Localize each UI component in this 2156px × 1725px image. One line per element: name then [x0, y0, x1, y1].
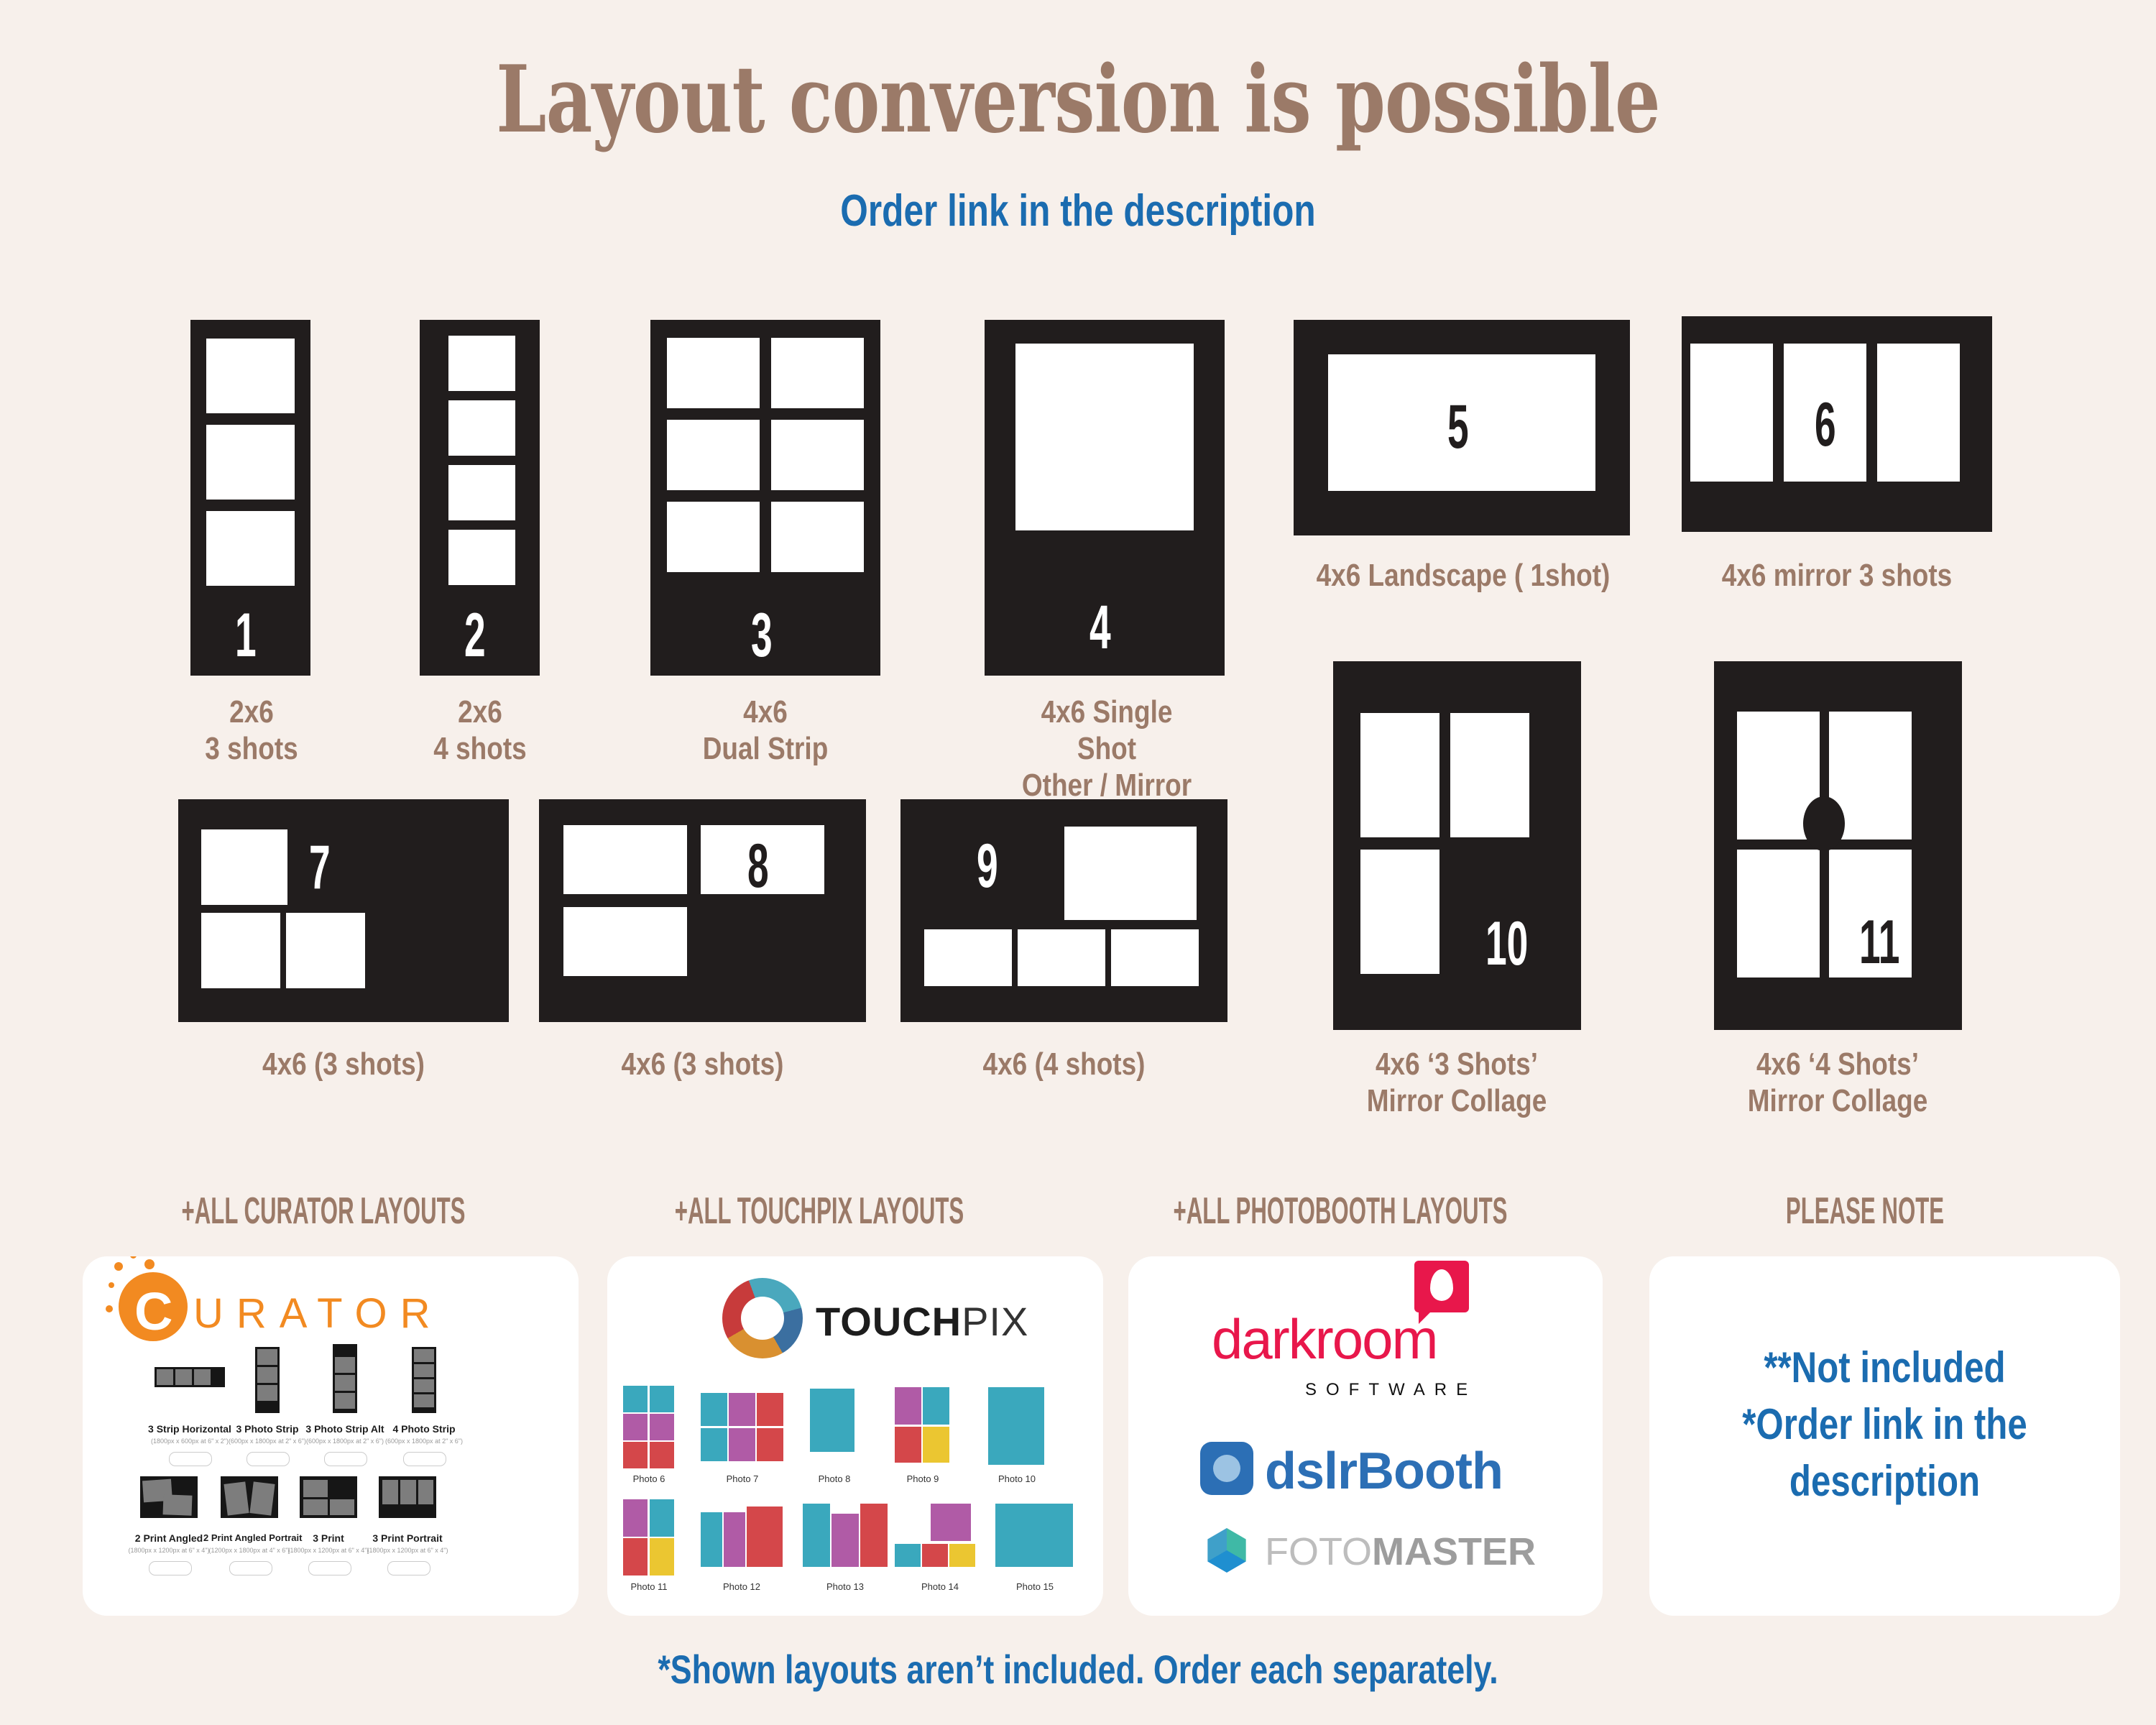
photo-cell — [1360, 850, 1439, 974]
layout-caption-8: 4x6 (3 shots) — [565, 1046, 839, 1082]
curator-thumb-label: 3 Print — [284, 1532, 373, 1544]
layout-template-2[interactable]: 2 — [420, 320, 540, 676]
layout-number: 1 — [235, 604, 257, 666]
photo-cell — [563, 907, 687, 976]
touchpix-card[interactable]: TOUCHPIX Photo 6 Photo 7 Photo 8 Photo 9… — [607, 1256, 1103, 1616]
touchpix-thumb[interactable] — [995, 1504, 1074, 1570]
touchpix-thumb-label: Photo 8 — [806, 1473, 863, 1484]
curator-download-button[interactable] — [387, 1561, 430, 1575]
darkroom-bubble-icon — [1414, 1261, 1469, 1312]
layout-template-4[interactable]: 4 — [985, 320, 1225, 676]
section-heading-curator: +ALL CURATOR LAYOUTS — [151, 1190, 496, 1233]
photo-cell — [771, 338, 864, 408]
photo-cell — [286, 913, 365, 988]
layout-number: 3 — [751, 604, 773, 666]
touchpix-thumb[interactable] — [699, 1505, 784, 1573]
curator-download-button[interactable] — [247, 1452, 290, 1466]
layout-number: 6 — [1815, 394, 1836, 456]
photo-cell — [771, 502, 864, 572]
fotomaster-logo-light: FOTO — [1265, 1530, 1372, 1573]
photo-cell — [771, 420, 864, 490]
curator-thumb[interactable] — [221, 1476, 278, 1518]
layout-template-7[interactable]: 7 — [178, 799, 509, 1022]
curator-dot-icon — [130, 1256, 137, 1259]
photo-cell — [448, 400, 515, 456]
curator-download-button[interactable] — [403, 1452, 446, 1466]
curator-thumb[interactable] — [412, 1347, 436, 1413]
curator-thumb[interactable] — [155, 1367, 225, 1387]
curator-card[interactable]: C URATOR 3 Strip Horizontal 3 Photo Stri… — [83, 1256, 579, 1616]
touchpix-logo-text: TOUCHPIX — [816, 1298, 1028, 1345]
photo-cell — [1018, 929, 1105, 986]
layout-caption-5: 4x6 Landscape ( 1shot) — [1312, 557, 1614, 594]
photo-cell — [1690, 344, 1773, 482]
fotomaster-logo-text: FOTOMASTER — [1265, 1529, 1536, 1574]
layout-caption-1: 2x6 3 shots — [164, 694, 339, 767]
curator-thumb[interactable] — [379, 1476, 436, 1518]
photo-cell — [201, 913, 280, 988]
layout-caption-11: 4x6 ‘4 Shots’ Mirror Collage — [1732, 1046, 1943, 1119]
photo-cell — [1111, 929, 1199, 986]
touchpix-thumb-label: Photo 10 — [985, 1473, 1049, 1484]
layout-caption-10: 4x6 ‘3 Shots’ Mirror Collage — [1351, 1046, 1562, 1119]
photobooth-card[interactable]: darkroom SOFTWARE dslrBooth FOTOMASTER — [1128, 1256, 1603, 1616]
section-heading-touchpix: +ALL TOUCHPIX LAYOUTS — [647, 1190, 992, 1233]
photo-cell — [1877, 344, 1960, 482]
layout-caption-4: 4x6 Single Shot Other / Mirror — [1013, 694, 1200, 804]
darkroom-logo-sub: SOFTWARE — [1305, 1380, 1477, 1400]
touchpix-thumb[interactable] — [701, 1393, 784, 1462]
photo-cell — [924, 929, 1012, 986]
layout-caption-6: 4x6 mirror 3 shots — [1686, 557, 1988, 594]
layout-caption-3: 4x6 Dual Strip — [678, 694, 853, 767]
layout-number: 10 — [1485, 913, 1528, 975]
dslrbooth-logo-light: dslr — [1265, 1443, 1357, 1500]
touchpix-thumb-label: Photo 14 — [893, 1581, 987, 1592]
section-heading-please-note: PLEASE NOTE — [1692, 1190, 2037, 1233]
curator-thumb-dims: (1800px x 1200px at 6" x 4") — [284, 1547, 373, 1554]
curator-thumb-dims: (1800px x 1200px at 6" x 4") — [124, 1547, 213, 1554]
fotomaster-logo-bold: MASTER — [1372, 1530, 1536, 1573]
curator-download-button[interactable] — [149, 1561, 192, 1575]
touchpix-ring-icon — [722, 1278, 803, 1358]
touchpix-thumb[interactable] — [895, 1387, 951, 1468]
curator-dot-icon — [114, 1262, 123, 1271]
photo-cell — [1064, 827, 1197, 920]
touchpix-thumb[interactable] — [623, 1499, 675, 1577]
curator-download-button[interactable] — [229, 1561, 272, 1575]
curator-thumb[interactable] — [140, 1476, 198, 1518]
curator-download-button[interactable] — [308, 1561, 351, 1575]
fotomaster-hex-icon — [1204, 1528, 1249, 1573]
photo-cell — [1360, 713, 1439, 837]
photo-cell — [448, 465, 515, 520]
layout-number: 9 — [977, 835, 998, 897]
photo-cell — [1737, 850, 1820, 977]
curator-thumb-dims: (1200px x 1800px at 4" x 6") — [203, 1547, 295, 1554]
touchpix-thumb-label: Photo 6 — [614, 1473, 683, 1484]
layout-template-1[interactable]: 1 — [190, 320, 310, 676]
curator-thumb-dims: (1800px x 1200px at 6" x 4") — [363, 1547, 452, 1554]
layout-template-3[interactable]: 3 — [650, 320, 880, 676]
layout-template-5[interactable]: 5 — [1294, 320, 1630, 535]
curator-logo-word: URATOR — [193, 1289, 443, 1338]
photo-cell — [448, 530, 515, 585]
curator-logo-letter: C — [134, 1285, 172, 1338]
curator-thumb-label: 2 Print Angled — [124, 1532, 213, 1544]
photo-cell — [667, 502, 760, 572]
curator-download-button[interactable] — [169, 1452, 212, 1466]
layout-number: 4 — [1089, 597, 1111, 658]
layout-number: 2 — [464, 604, 486, 666]
touchpix-thumb-label: Photo 12 — [699, 1581, 784, 1592]
footer-note: *Shown layouts aren’t included. Order ea… — [216, 1646, 1940, 1693]
touchpix-thumb-label: Photo 15 — [995, 1581, 1074, 1592]
touchpix-thumb[interactable] — [893, 1504, 987, 1573]
photo-cell — [563, 825, 687, 894]
layout-number: 8 — [747, 835, 769, 897]
curator-thumb[interactable] — [333, 1344, 357, 1413]
touchpix-thumb-label: Photo 13 — [803, 1581, 888, 1592]
curator-dot-icon — [144, 1259, 155, 1269]
layout-caption-2: 2x6 4 shots — [392, 694, 568, 767]
center-knob-icon — [1803, 796, 1845, 851]
dslrbooth-logo-bold: Booth — [1357, 1443, 1503, 1500]
touchpix-logo-bold: TOUCH — [816, 1299, 962, 1344]
dslrbooth-logo-text: dslrBooth — [1265, 1442, 1503, 1501]
touchpix-logo-light: PIX — [962, 1299, 1028, 1344]
curator-thumb-dims: (600px x 1800px at 2" x 6") — [373, 1437, 475, 1445]
layout-caption-7: 4x6 (3 shots) — [205, 1046, 482, 1082]
photo-cell — [667, 420, 760, 490]
page-title: Layout conversion is possible — [237, 52, 1919, 148]
touchpix-thumb-label: Photo 9 — [892, 1473, 954, 1484]
section-heading-photobooth: +ALL PHOTOBOOTH LAYOUTS — [1168, 1190, 1513, 1233]
layout-template-10[interactable]: 10 — [1333, 661, 1581, 1030]
please-note-text: **Not included *Order link in the descri… — [1692, 1339, 2078, 1510]
layout-caption-9: 4x6 (4 shots) — [926, 1046, 1201, 1082]
touchpix-thumb[interactable] — [803, 1504, 888, 1573]
darkroom-logo-word: darkroom — [1212, 1307, 1437, 1372]
layout-number: 11 — [1859, 911, 1899, 973]
layout-template-8[interactable]: 8 — [539, 799, 866, 1022]
photo-cell — [201, 829, 287, 905]
photo-cell — [206, 425, 295, 500]
curator-download-button[interactable] — [324, 1452, 367, 1466]
photo-cell — [1015, 344, 1194, 530]
touchpix-thumb[interactable] — [988, 1387, 1046, 1468]
curator-thumb-label: 2 Print Angled Portrait — [203, 1532, 295, 1543]
photo-cell — [667, 338, 760, 408]
photo-cell — [206, 511, 295, 586]
layout-template-6[interactable]: 6 — [1682, 316, 1992, 532]
touchpix-thumb[interactable] — [623, 1386, 675, 1469]
layout-template-11[interactable]: 11 — [1714, 661, 1962, 1030]
layout-number: 5 — [1447, 396, 1469, 458]
layout-number: 7 — [309, 837, 331, 898]
curator-thumb-label: 3 Print Portrait — [363, 1532, 452, 1544]
dslrbooth-lens-icon — [1213, 1455, 1240, 1482]
please-note-card: **Not included *Order link in the descri… — [1649, 1256, 2120, 1616]
curator-thumb[interactable] — [300, 1476, 357, 1518]
curator-dot-icon — [109, 1282, 114, 1288]
curator-logo: C URATOR — [119, 1272, 492, 1344]
layout-template-9[interactable]: 9 — [900, 799, 1227, 1022]
page-subtitle: Order link in the description — [216, 185, 1940, 236]
photo-cell — [448, 336, 515, 391]
curator-thumb-label: 4 Photo Strip — [373, 1423, 475, 1435]
touchpix-thumb-label: Photo 7 — [701, 1473, 784, 1484]
curator-thumb[interactable] — [255, 1347, 280, 1413]
curator-dot-icon — [106, 1305, 113, 1312]
photo-cell — [206, 339, 295, 413]
touchpix-thumb-label: Photo 11 — [614, 1581, 683, 1592]
touchpix-ring-hole — [741, 1297, 784, 1340]
photo-cell — [1450, 713, 1529, 837]
darkroom-drop-icon — [1430, 1269, 1453, 1301]
touchpix-thumb[interactable] — [807, 1387, 860, 1468]
dslrbooth-camera-icon — [1200, 1442, 1253, 1495]
